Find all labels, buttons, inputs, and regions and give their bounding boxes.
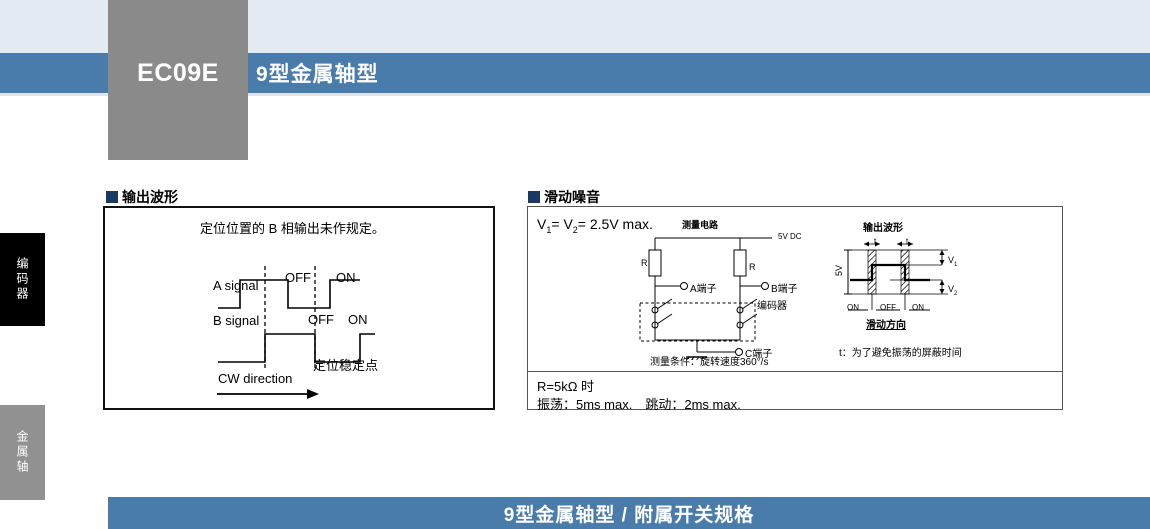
resistor-left-label: R xyxy=(641,258,648,268)
measurement-circuit-diagram xyxy=(630,230,810,360)
b-off-label: OFF xyxy=(308,312,334,327)
sidebar-item-encoder-label: 编码器 xyxy=(14,257,31,302)
left-section-heading: 输出波形 xyxy=(106,187,178,207)
t-note-label: t：为了避免振荡的屏蔽时间 xyxy=(839,344,962,359)
state-on-right-label: ON xyxy=(912,303,924,312)
cw-direction-label: CW direction xyxy=(218,371,292,386)
waveform-note: 定位位置的 B 相输出未作规定。 xyxy=(200,218,385,237)
resistor-right-label: R xyxy=(749,262,756,272)
voltage-v1-label: V xyxy=(537,216,546,232)
encoder-box-label: 编码器 xyxy=(757,297,787,312)
terminal-a-label: A端子 xyxy=(690,280,717,295)
panel-divider xyxy=(527,371,1063,372)
a-off-label: OFF xyxy=(285,270,311,285)
measurement-condition: 测量条件：旋转速度360°/s xyxy=(650,353,768,368)
right-section-heading: 滑动噪音 xyxy=(528,187,600,207)
terminal-b-label: B端子 xyxy=(771,280,798,295)
page-title: 9型金属轴型 xyxy=(256,53,379,93)
b-on-label: ON xyxy=(348,312,368,327)
bottom-banner-title: 9型金属轴型 / 附属开关规格 xyxy=(504,500,754,527)
square-marker-icon xyxy=(528,191,540,203)
detent-point-label: 定位稳定点 xyxy=(313,355,378,374)
cw-direction-arrow-icon xyxy=(215,388,325,402)
footer-resistance-line: R=5kΩ 时 xyxy=(537,376,594,395)
supply-label: 5V DC xyxy=(778,232,802,241)
product-code-label: EC09E xyxy=(108,53,248,93)
state-off-label: OFF xyxy=(880,303,896,312)
bottom-banner: 9型金属轴型 / 附属开关规格 xyxy=(108,497,1150,529)
sidebar-item-encoder[interactable]: 编码器 xyxy=(0,233,45,326)
output-waveform-diagram xyxy=(210,250,410,370)
state-on-left-label: ON xyxy=(847,303,859,312)
voltage-v2-label: V xyxy=(563,216,572,232)
signal-b-label: B signal xyxy=(213,313,259,328)
square-marker-icon xyxy=(106,191,118,203)
sidebar-item-metal-shaft[interactable]: 金属轴 xyxy=(0,405,45,500)
t-left-label: t xyxy=(874,237,876,246)
a-on-label: ON xyxy=(336,270,356,285)
axis-5v-label: 5V xyxy=(834,265,844,276)
v2-marker-label: V2 xyxy=(948,284,957,297)
footer-timing-line: 振荡：5ms max. 跳动：2ms max. xyxy=(537,394,741,413)
sidebar-item-metal-shaft-label: 金属轴 xyxy=(14,430,31,475)
right-section-heading-label: 滑动噪音 xyxy=(544,187,600,207)
signal-a-label: A signal xyxy=(213,278,259,293)
voltage-eq1: = xyxy=(551,216,559,232)
slide-direction-label: 滑动方向 xyxy=(866,316,906,331)
left-section-heading-label: 输出波形 xyxy=(122,187,178,207)
v1-marker-label: V1 xyxy=(948,255,957,268)
t-right-label: t xyxy=(906,237,908,246)
